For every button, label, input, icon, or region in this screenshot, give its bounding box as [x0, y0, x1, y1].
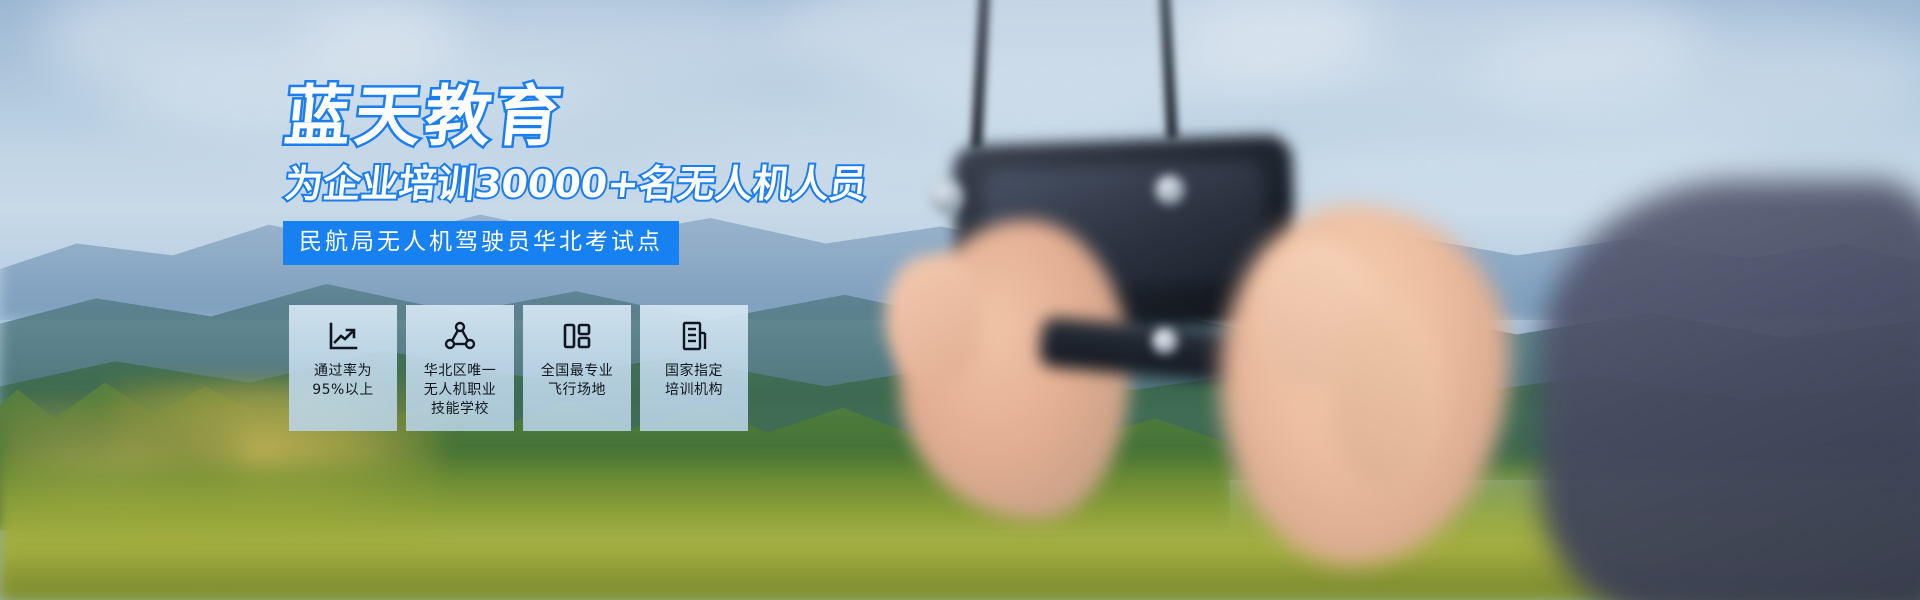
dual-panel-icon	[560, 319, 594, 353]
feature-card-only-school[interactable]: 华北区唯一 无人机职业 技能学校	[406, 305, 514, 431]
feature-card-national-institution[interactable]: 国家指定 培训机构	[640, 305, 748, 431]
growth-chart-icon	[326, 319, 360, 353]
feature-card-label: 国家指定 培训机构	[665, 362, 723, 400]
feature-card-label: 全国最专业 飞行场地	[541, 362, 614, 400]
feature-card-label: 通过率为 95%以上	[312, 362, 374, 400]
network-nodes-icon	[443, 319, 477, 353]
feature-card-list: 通过率为 95%以上 华北区唯一 无人机职业 技能学校	[289, 305, 748, 431]
building-icon	[677, 319, 711, 353]
feature-card-label: 华北区唯一 无人机职业 技能学校	[424, 362, 497, 419]
banner-content: 蓝天教育 为企业培训30000+名无人机人员 民航局无人机驾驶员华北考试点 通过…	[0, 0, 1920, 600]
feature-card-flight-field[interactable]: 全国最专业 飞行场地	[523, 305, 631, 431]
banner-subtitle: 为企业培训30000+名无人机人员	[283, 162, 870, 206]
hero-banner: 蓝天教育 为企业培训30000+名无人机人员 民航局无人机驾驶员华北考试点 通过…	[0, 0, 1920, 600]
certification-badge: 民航局无人机驾驶员华北考试点	[283, 221, 679, 265]
banner-title: 蓝天教育	[281, 82, 568, 152]
feature-card-pass-rate[interactable]: 通过率为 95%以上	[289, 305, 397, 431]
